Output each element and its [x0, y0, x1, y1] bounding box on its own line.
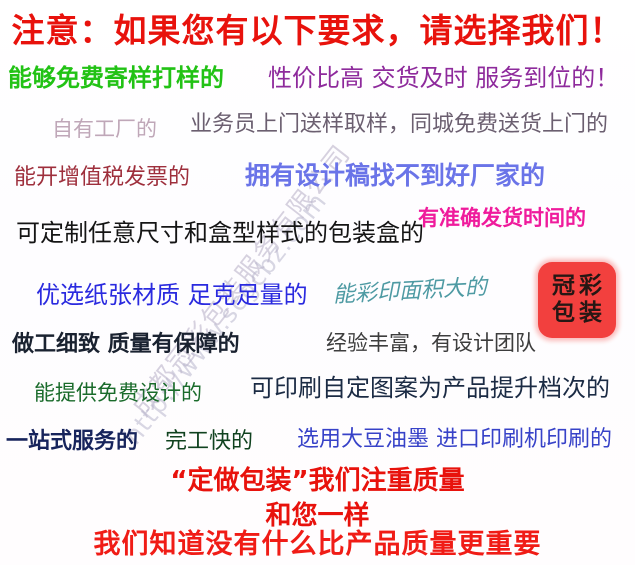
feature-experienced-design-team: 经验丰富，有设计团队	[326, 333, 536, 354]
feature-fine-workmanship: 做工细致 质量有保障的	[12, 334, 240, 356]
feature-fast-completion: 完工快的	[165, 431, 253, 453]
feature-own-factory: 自有工厂的	[52, 119, 157, 140]
feature-have-design-need-factory: 拥有设计稿找不到好厂家的	[245, 163, 545, 188]
feature-free-design: 能提供免费设计的	[34, 383, 202, 404]
feature-premium-paper: 优选纸张材质 足克足量的	[36, 283, 308, 307]
company-stamp: 冠彩 包装	[538, 262, 616, 338]
footer-slogan-line1: “定做包装”我们注重质量	[0, 468, 635, 494]
feature-soy-ink-imported-press: 选用大豆油墨 进口印刷机印刷的	[297, 429, 612, 451]
feature-accurate-shipping-time: 有准确发货时间的	[418, 208, 586, 229]
feature-vat-invoice: 能开增值税发票的	[14, 167, 190, 189]
promo-banner: 成都冠彩包装服务有限公司 http://www.scgcbz.com 注意：如果…	[0, 0, 635, 565]
footer-slogan-line3: 我们知道没有什么比产品质量更重要	[0, 531, 635, 558]
feature-door-to-door-sampling: 业务员上门送样取样，同城免费送货上门的	[190, 114, 608, 136]
feature-custom-pattern-printing: 可印刷自定图案为产品提升档次的	[250, 376, 610, 400]
feature-one-stop-service: 一站式服务的	[6, 431, 138, 453]
feature-free-sample: 能够免费寄样打样的	[8, 66, 224, 90]
feature-large-area-color-print: 能彩印面积大的	[333, 277, 488, 307]
feature-value-delivery-service: 性价比高 交货及时 服务到位的！	[268, 66, 619, 90]
stamp-text-line2: 包装	[548, 300, 606, 327]
stamp-text-line1: 冠彩	[548, 273, 606, 300]
headline-title: 注意：如果您有以下要求，请选择我们！	[0, 14, 635, 47]
feature-custom-size-box: 可定制任意尺寸和盒型样式的包装盒的	[16, 221, 424, 245]
footer-slogan-line2: 和您一样	[0, 503, 635, 529]
